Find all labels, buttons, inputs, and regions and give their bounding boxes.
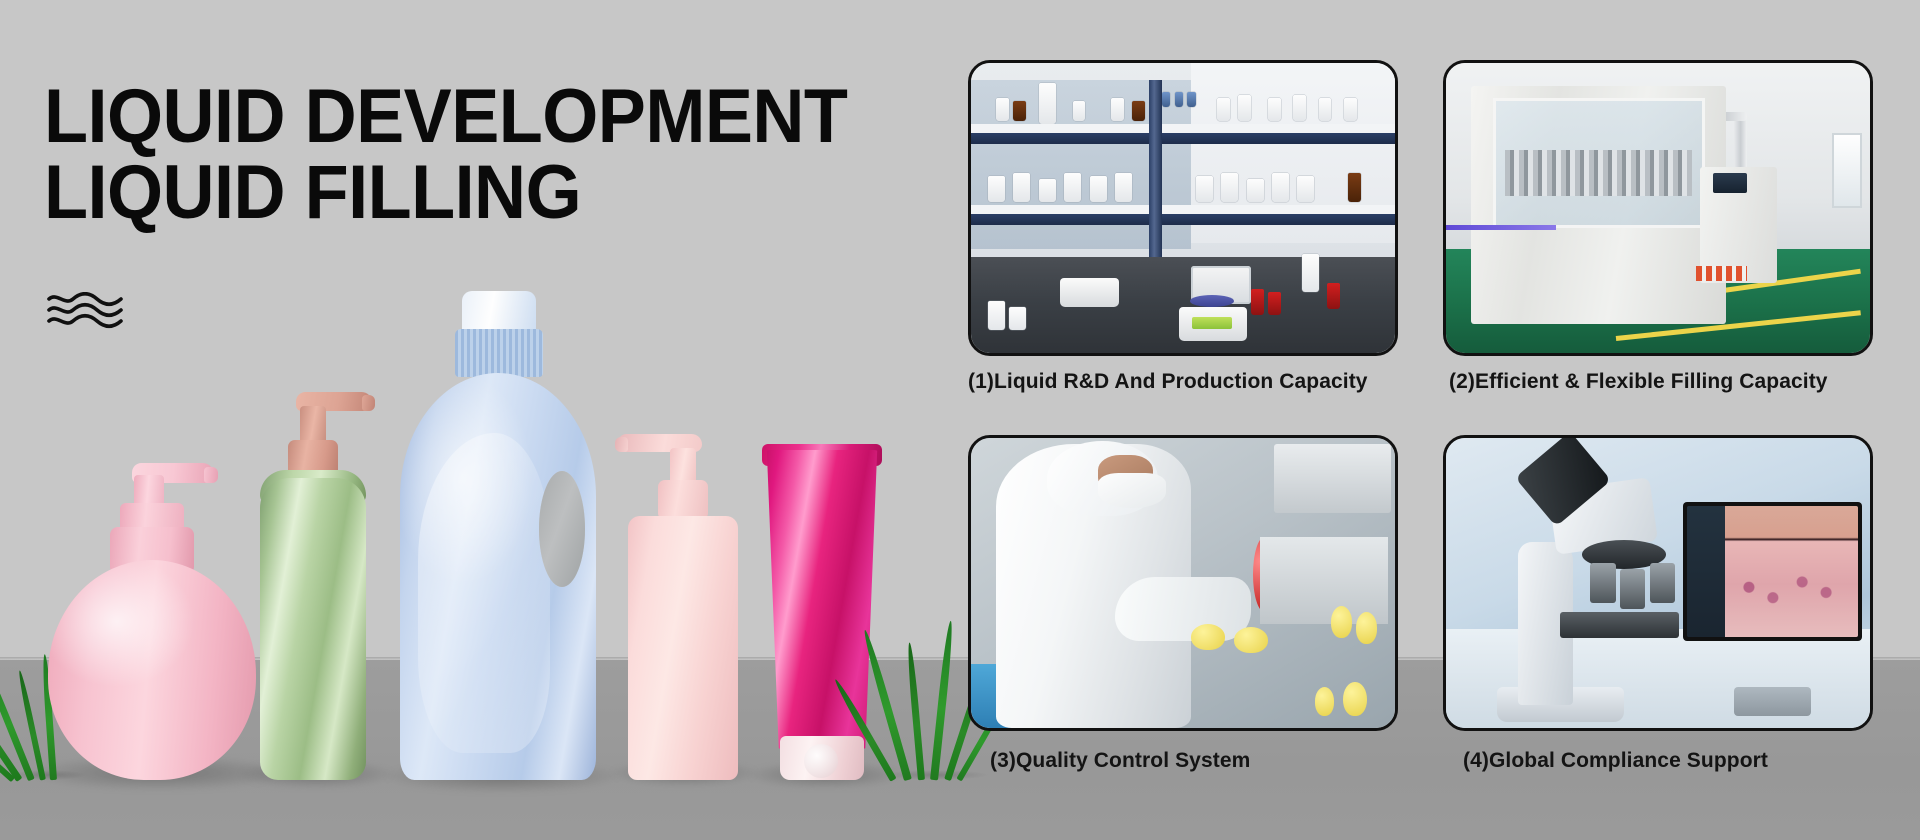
- photo-scene: [1446, 438, 1870, 728]
- bottle-body: [628, 516, 738, 780]
- photo-scene: [1446, 63, 1870, 353]
- bottle-body: [48, 560, 256, 780]
- monitor: [1683, 502, 1861, 641]
- feature-card-2[interactable]: (2)Efficient & Flexible Filling Capacity: [1443, 60, 1873, 394]
- feature-card-3-label: (3)Quality Control System: [968, 749, 1398, 773]
- green-pump-bottle: [252, 378, 374, 780]
- jug-label-panel: [418, 433, 550, 753]
- feature-card-1-label: (1)Liquid R&D And Production Capacity: [968, 370, 1398, 394]
- feature-card-grid: (1)Liquid R&D And Production Capacity: [968, 60, 1880, 790]
- ribbed-cap: [455, 329, 543, 377]
- round-pink-pump-bottle: [48, 455, 256, 780]
- product-lineup: [0, 0, 960, 840]
- quality-control-photo[interactable]: [968, 435, 1398, 731]
- photo-scene: [971, 438, 1395, 728]
- feature-card-3[interactable]: (3)Quality Control System: [968, 435, 1398, 773]
- bottle-body: [260, 478, 366, 780]
- feature-card-2-label: (2)Efficient & Flexible Filling Capacity: [1443, 370, 1873, 394]
- laboratory-rnd-photo[interactable]: [968, 60, 1398, 356]
- tube-body: [762, 450, 882, 750]
- banner-root: LIQUID DEVELOPMENT LIQUID FILLING: [0, 0, 1920, 840]
- feature-card-1[interactable]: (1)Liquid R&D And Production Capacity: [968, 60, 1398, 394]
- pump-collar: [658, 480, 708, 520]
- feature-card-4-label: (4)Global Compliance Support: [1443, 749, 1873, 773]
- photo-scene: [971, 63, 1395, 353]
- filling-line-photo[interactable]: [1443, 60, 1873, 356]
- tube-flip-cap: [780, 736, 864, 780]
- blue-detergent-jug: [400, 283, 596, 780]
- compliance-lab-photo[interactable]: [1443, 435, 1873, 731]
- jug-handle: [539, 471, 585, 587]
- feature-card-4[interactable]: (4)Global Compliance Support: [1443, 435, 1873, 773]
- pink-rectangular-pump-bottle: [624, 424, 742, 780]
